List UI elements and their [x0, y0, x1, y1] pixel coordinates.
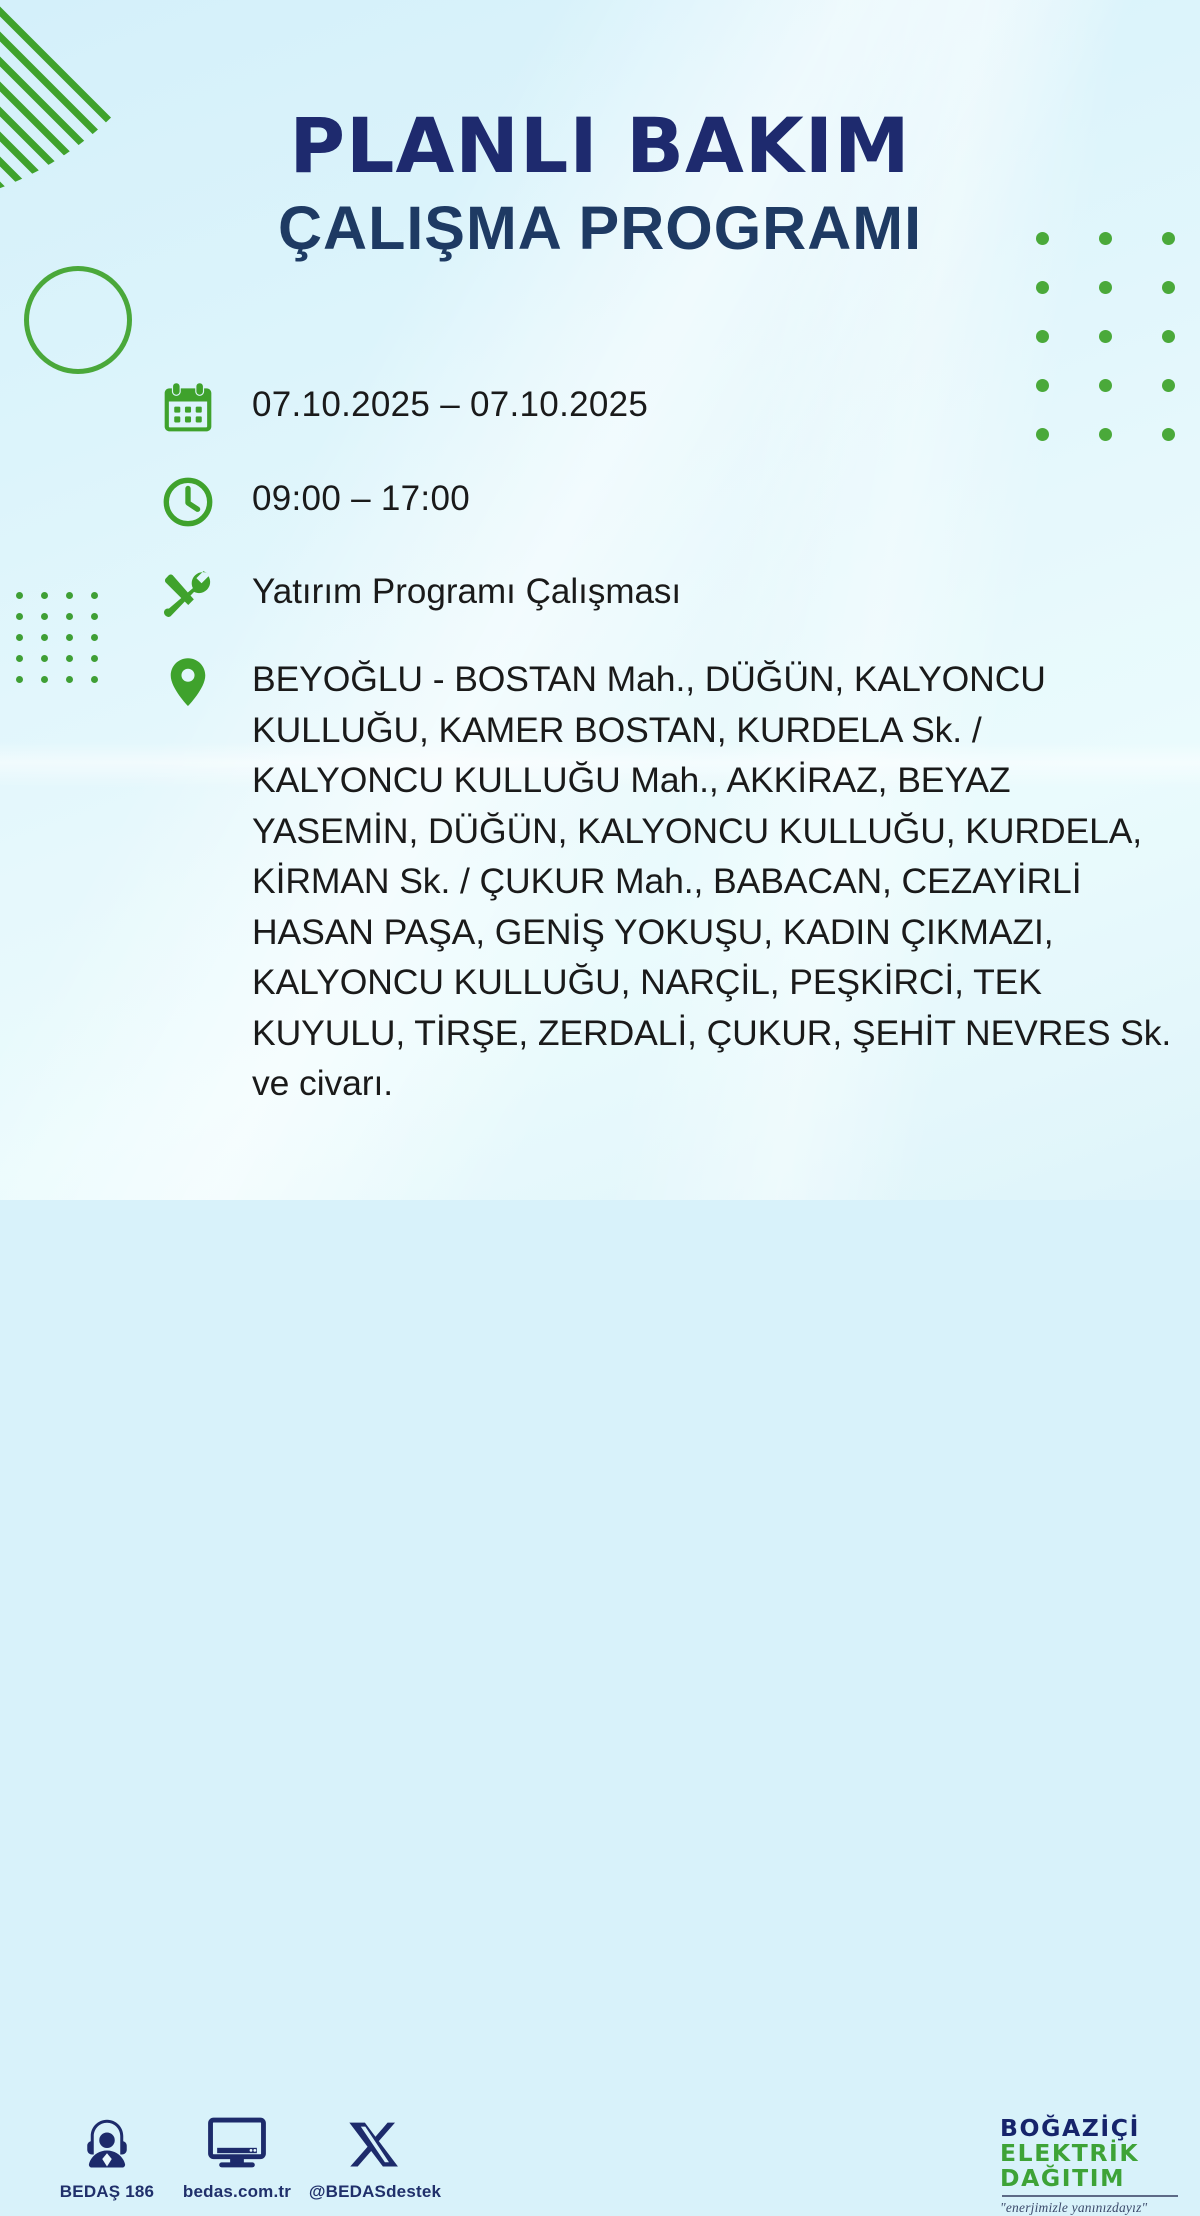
brand-tagline: "enerjimizle yanınızdayız" [1000, 2200, 1186, 2216]
page-title: PLANLI BAKIM [0, 108, 1200, 184]
location-pin-icon [160, 652, 252, 710]
info-row-work-type: Yatırım Programı Çalışması [160, 564, 1180, 622]
info-row-date: 07.10.2025 – 07.10.2025 [160, 378, 1180, 436]
brand-divider [1002, 2195, 1178, 2197]
bedas-logo: BOĞAZİÇİ ELEKTRİK DAĞITIM "enerjimizle y… [1000, 2116, 1186, 2216]
footer-item-x-account[interactable]: @BEDASdestek [290, 2112, 460, 2202]
page-footer: BEDAŞ 186 bedas.com.tr @BEDASdestek BOĞA… [0, 1050, 1200, 1200]
calendar-icon [160, 378, 252, 436]
time-range-value: 09:00 – 17:00 [252, 472, 470, 516]
location-value: BEYOĞLU - BOSTAN Mah., DÜĞÜN, KALYONCU K… [252, 652, 1180, 1109]
brand-line-bogazici: BOĞAZİÇİ [1000, 2116, 1186, 2141]
footer-label-x-account: @BEDASdestek [290, 2182, 460, 2202]
page-header: PLANLI BAKIM ÇALIŞMA PROGRAMI [0, 108, 1200, 259]
date-range-value: 07.10.2025 – 07.10.2025 [252, 378, 648, 422]
info-row-location: BEYOĞLU - BOSTAN Mah., DÜĞÜN, KALYONCU K… [160, 652, 1180, 1109]
brand-line-elektrik: ELEKTRİK [1000, 2141, 1186, 2166]
info-row-time: 09:00 – 17:00 [160, 472, 1180, 530]
work-type-value: Yatırım Programı Çalışması [252, 564, 681, 609]
tools-icon [160, 564, 252, 622]
page-subtitle: ÇALIŞMA PROGRAMI [0, 198, 1200, 259]
info-list: 07.10.2025 – 07.10.2025 09:00 – 17:00 Ya… [160, 378, 1180, 1137]
brand-line-dagitim: DAĞITIM [1000, 2166, 1186, 2191]
x-twitter-icon [290, 2112, 460, 2176]
clock-icon [160, 472, 252, 530]
